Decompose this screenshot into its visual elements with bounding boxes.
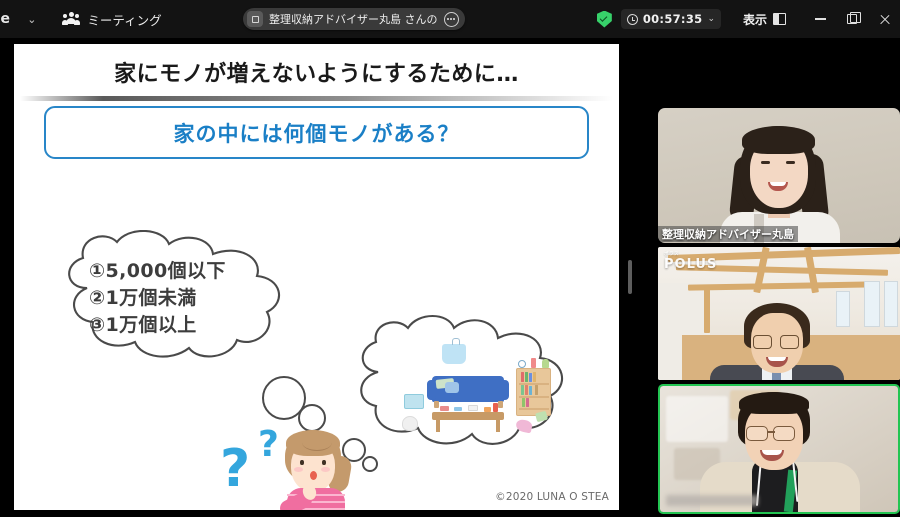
cheek-right xyxy=(321,467,330,472)
people-group-icon xyxy=(62,12,80,26)
eye-right xyxy=(786,161,795,164)
hanging-clothes-icon xyxy=(442,344,466,364)
table-item xyxy=(440,406,449,411)
glasses-bridge xyxy=(767,431,775,433)
timer-value: 00:57:35 xyxy=(643,12,703,26)
app-top-bar: ce ⌄ ミーティング 整理収納アドバイザー丸島 さんの 00:57:35 ⌄ … xyxy=(0,0,900,38)
shared-slide[interactable]: 家にモノが増えないようにするために… 家の中には何個モノがある？ ①5,000個… xyxy=(14,44,619,510)
minimize-button[interactable] xyxy=(804,0,836,38)
app-name-label: ce xyxy=(0,11,10,27)
meeting-label: ミーティング xyxy=(87,10,161,29)
table-item xyxy=(484,407,491,412)
chevron-down-icon[interactable]: ⌄ xyxy=(27,13,36,26)
cluttered-living-room-illustration xyxy=(398,342,563,437)
view-button[interactable]: 表示 xyxy=(743,11,786,28)
table-item xyxy=(454,407,462,411)
copyright-text: ©2020 LUNA O STEA xyxy=(495,491,609,503)
meeting-menu-item[interactable]: ミーティング xyxy=(62,10,161,29)
more-dots-icon[interactable] xyxy=(444,12,459,27)
eye-right xyxy=(322,460,326,465)
sofa-leg xyxy=(434,401,439,408)
participant-name-label: 整理収納アドバイザー丸島 xyxy=(658,226,798,242)
hair-bangs xyxy=(286,430,340,456)
choice-1: ①5,000個以下 xyxy=(89,258,226,285)
video-feed-3 xyxy=(660,386,898,512)
scattered-item-green xyxy=(535,411,548,423)
scattered-item-pink xyxy=(515,418,533,433)
close-button[interactable] xyxy=(868,0,900,38)
cheek-left xyxy=(294,467,303,472)
bookshelf-illustration xyxy=(516,368,551,416)
bottle-illustration xyxy=(531,358,536,368)
video-feed-1 xyxy=(658,108,900,243)
choice-2: ②1万個未満 xyxy=(89,285,226,312)
meeting-stage: 家にモノが増えないようにするために… 家の中には何個モノがある？ ①5,000個… xyxy=(0,38,900,517)
clock-illustration xyxy=(518,360,526,368)
post xyxy=(704,287,710,333)
question-box: 家の中には何個モノがある？ xyxy=(44,106,589,159)
participant-video-rail: 整理収納アドバイザー丸島 xyxy=(650,44,900,510)
maximize-button[interactable] xyxy=(836,0,868,38)
glasses-left-lens xyxy=(753,335,772,349)
mouth xyxy=(310,471,317,480)
answer-choices: ①5,000個以下 ②1万個未満 ③1万個以上 xyxy=(89,258,226,339)
background-blur xyxy=(666,396,728,442)
topbar-right-group: 00:57:35 ⌄ 表示 xyxy=(597,0,900,38)
video-feed-2: ポラス POLUS xyxy=(658,247,900,380)
glasses-left-lens xyxy=(746,426,768,441)
choice-3: ③1万個以上 xyxy=(89,312,226,339)
panel-resize-handle[interactable] xyxy=(621,44,639,510)
question-text: 家の中には何個モノがある？ xyxy=(174,118,460,148)
table-item xyxy=(493,403,498,412)
toy-box-illustration xyxy=(404,394,424,409)
thinking-woman-illustration xyxy=(267,426,367,510)
coffee-table-illustration xyxy=(432,412,504,420)
cushion-illustration xyxy=(445,382,459,393)
participant-tile-2[interactable]: ポラス POLUS xyxy=(658,247,900,380)
participant-tile-3[interactable] xyxy=(658,384,900,514)
layout-grid-icon xyxy=(773,13,786,25)
participant-name-bar: 整理収納アドバイザー丸島 xyxy=(658,224,900,243)
view-label: 表示 xyxy=(743,11,767,28)
thought-bubble-left: ①5,000個以下 ②1万個未満 ③1万個以上 xyxy=(59,230,369,370)
eye-left xyxy=(761,161,770,164)
eye-left xyxy=(300,460,304,465)
bag-illustration xyxy=(402,416,418,431)
blurred-name-label xyxy=(666,495,758,506)
sofa-leg xyxy=(498,401,503,408)
window xyxy=(864,281,880,327)
topbar-left-group: ce ⌄ ミーティング xyxy=(0,10,162,29)
hair-bangs xyxy=(742,126,815,154)
plant-illustration xyxy=(542,359,549,368)
share-title-label: 整理収納アドバイザー丸島 さんの xyxy=(269,11,438,27)
green-shield-check-icon xyxy=(597,11,612,28)
polus-watermark: ポラス POLUS xyxy=(664,251,717,272)
window-controls xyxy=(804,0,900,38)
window xyxy=(836,291,850,327)
slide-title: 家にモノが増えないようにするために… xyxy=(14,56,619,88)
chevron-down-icon[interactable]: ⌄ xyxy=(707,14,715,24)
clock-icon xyxy=(627,14,638,25)
screen-share-banner[interactable]: 整理収納アドバイザー丸島 さんの xyxy=(243,8,465,30)
meeting-timer[interactable]: 00:57:35 ⌄ xyxy=(621,9,721,29)
title-divider xyxy=(20,96,613,101)
shared-window-icon xyxy=(247,11,263,27)
ceiling-beam xyxy=(688,281,874,290)
glasses-right-lens xyxy=(773,426,795,441)
polus-watermark-text: POLUS xyxy=(664,257,717,272)
participant-tile-1[interactable]: 整理収納アドバイザー丸島 xyxy=(658,108,900,243)
window xyxy=(884,281,898,327)
hair-bangs xyxy=(739,392,809,414)
question-mark-large: ? xyxy=(220,439,250,499)
glasses-right-lens xyxy=(780,335,799,349)
table-item xyxy=(468,405,478,411)
thought-bubble-right xyxy=(352,312,602,462)
polus-watermark-sub: ポラス xyxy=(664,251,717,257)
